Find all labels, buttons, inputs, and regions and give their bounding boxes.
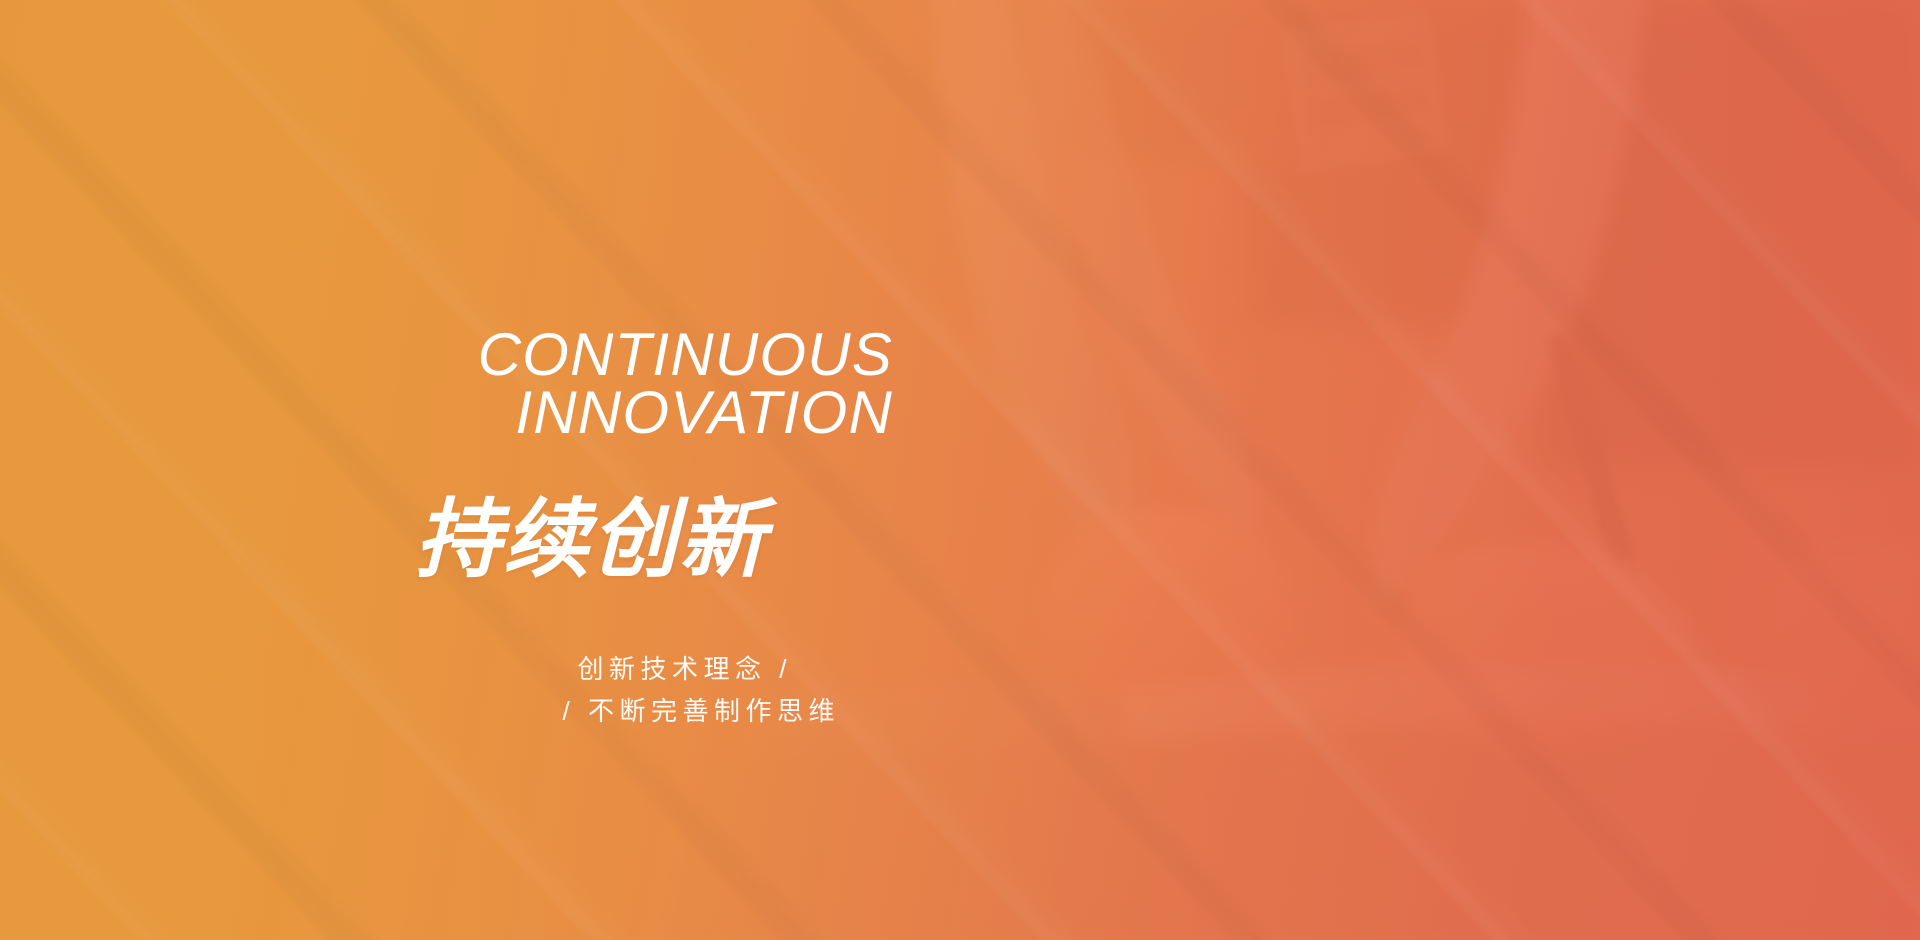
subtitle-line1: 创新技术理念 / <box>0 648 840 690</box>
banner-content: CONTINUOUS INNOVATION 持续创新 创新技术理念 / / 不断… <box>0 0 910 940</box>
headline-english: CONTINUOUS INNOVATION <box>0 326 893 442</box>
headline-chinese: 持续创新 <box>415 492 767 588</box>
headline-english-line1: CONTINUOUS <box>478 321 893 388</box>
subtitle-line2: / 不断完善制作思维 <box>0 690 840 732</box>
hero-banner: CONTINUOUS INNOVATION 持续创新 创新技术理念 / / 不断… <box>0 0 1920 940</box>
subtitle: 创新技术理念 / / 不断完善制作思维 <box>0 648 840 732</box>
headline-english-line2: INNOVATION <box>0 384 893 442</box>
